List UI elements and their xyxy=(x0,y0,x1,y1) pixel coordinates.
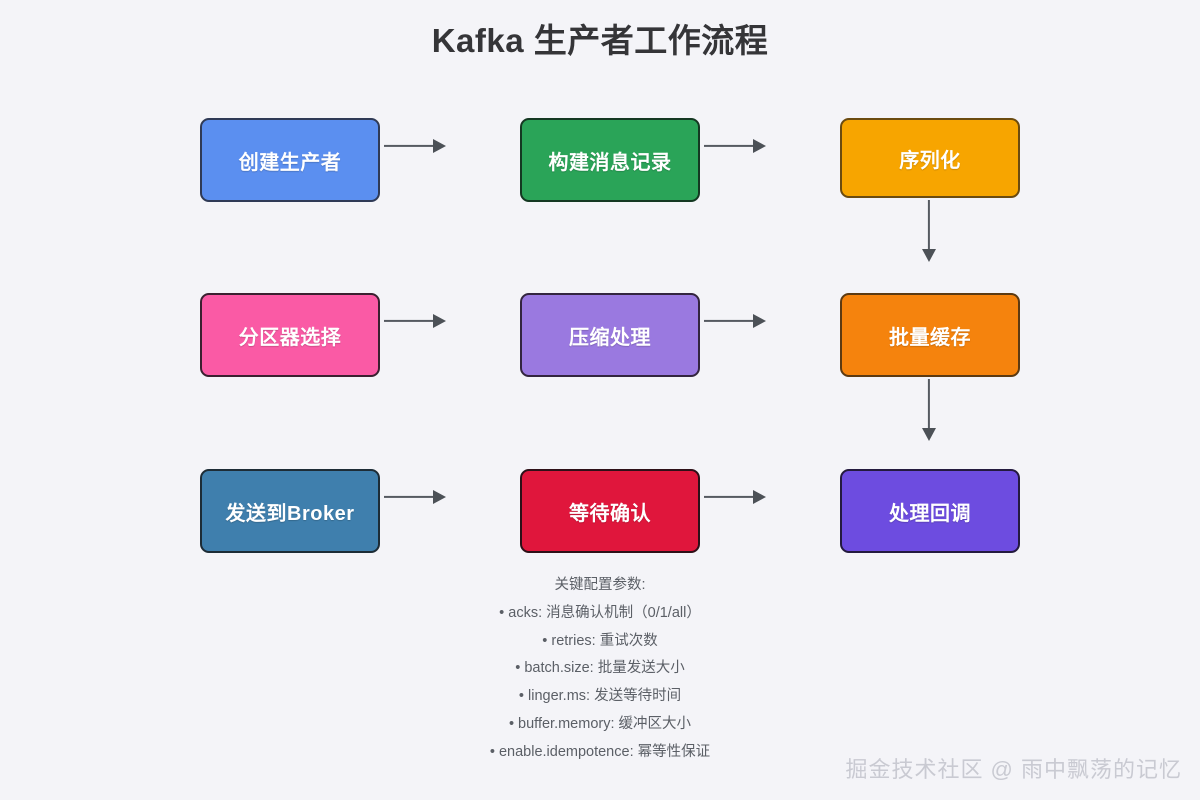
arrow-head-icon xyxy=(753,139,766,153)
config-note-item: • acks: 消息确认机制（0/1/all） xyxy=(380,600,820,628)
arrow-shaft xyxy=(384,320,435,322)
config-note-item: • batch.size: 批量发送大小 xyxy=(380,655,820,683)
flow-node-n7[interactable]: 发送到Broker xyxy=(200,469,380,553)
config-notes: 关键配置参数: • acks: 消息确认机制（0/1/all）• retries… xyxy=(380,572,820,767)
arrow-shaft xyxy=(704,320,755,322)
arrow-shaft xyxy=(928,379,930,430)
flow-arrow-n6-to-n9 xyxy=(921,379,937,441)
config-note-item: • enable.idempotence: 幂等性保证 xyxy=(380,739,820,767)
arrow-head-icon xyxy=(433,490,446,504)
flow-node-n3[interactable]: 序列化 xyxy=(840,118,1020,198)
flow-node-n5[interactable]: 压缩处理 xyxy=(520,293,700,377)
flow-node-n6[interactable]: 批量缓存 xyxy=(840,293,1020,377)
page-title: Kafka 生产者工作流程 xyxy=(0,14,1200,62)
config-note-item: • buffer.memory: 缓冲区大小 xyxy=(380,711,820,739)
flow-node-n9[interactable]: 处理回调 xyxy=(840,469,1020,553)
arrow-head-icon xyxy=(433,139,446,153)
flow-arrow-n8-to-n9 xyxy=(704,489,766,505)
diagram-canvas: Kafka 生产者工作流程 创建生产者构建消息记录序列化分区器选择压缩处理批量缓… xyxy=(0,0,1200,800)
arrow-head-icon xyxy=(753,490,766,504)
watermark: 掘金技术社区 @ 雨中飘荡的记忆 xyxy=(845,752,1182,784)
flow-arrow-n2-to-n3 xyxy=(704,138,766,154)
flow-arrow-n1-to-n2 xyxy=(384,138,446,154)
arrow-head-icon xyxy=(922,428,936,441)
config-note-item: • linger.ms: 发送等待时间 xyxy=(380,683,820,711)
flow-arrow-n5-to-n6 xyxy=(704,313,766,329)
arrow-head-icon xyxy=(922,249,936,262)
flow-arrow-n4-to-n5 xyxy=(384,313,446,329)
flow-node-n4[interactable]: 分区器选择 xyxy=(200,293,380,377)
arrow-shaft xyxy=(928,200,930,251)
arrow-shaft xyxy=(704,145,755,147)
arrow-head-icon xyxy=(433,314,446,328)
flow-arrow-n3-to-n6 xyxy=(921,200,937,262)
arrow-shaft xyxy=(384,496,435,498)
arrow-shaft xyxy=(704,496,755,498)
config-note-item: • retries: 重试次数 xyxy=(380,628,820,656)
flow-node-n1[interactable]: 创建生产者 xyxy=(200,118,380,202)
arrow-head-icon xyxy=(753,314,766,328)
config-notes-list: • acks: 消息确认机制（0/1/all）• retries: 重试次数• … xyxy=(380,600,820,767)
config-notes-heading: 关键配置参数: xyxy=(380,572,820,600)
flow-arrow-n7-to-n8 xyxy=(384,489,446,505)
arrow-shaft xyxy=(384,145,435,147)
flow-node-n8[interactable]: 等待确认 xyxy=(520,469,700,553)
flow-node-n2[interactable]: 构建消息记录 xyxy=(520,118,700,202)
